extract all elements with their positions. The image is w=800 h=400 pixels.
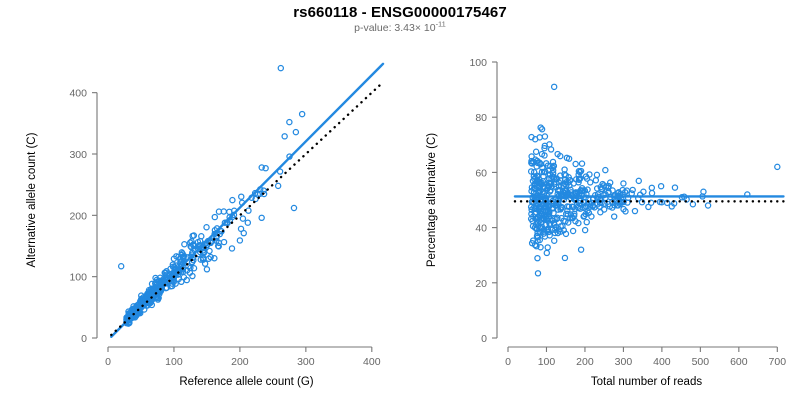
data-point [287,120,292,125]
data-point [241,231,246,236]
data-point [535,256,540,261]
x-tick-label: 0 [105,356,111,368]
data-point [594,172,599,177]
x-tick-label: 600 [730,356,748,368]
data-point [548,147,553,152]
data-point [573,161,578,166]
x-tick-label: 700 [769,356,787,368]
x-tick-label: 400 [363,356,381,368]
data-point [535,271,540,276]
x-tick-label: 0 [505,356,511,368]
data-points [119,66,305,327]
data-point [621,181,626,186]
data-point [552,84,557,89]
data-point [259,215,264,220]
data-point [542,134,547,139]
data-point [630,187,635,192]
data-point [293,130,298,135]
data-point [278,66,283,71]
data-point [584,220,589,225]
data-point [579,161,584,166]
data-point [204,225,209,230]
y-tick-label: 300 [69,149,87,161]
data-point [571,228,576,233]
data-point [245,220,250,225]
data-points [529,84,780,276]
data-point [544,250,549,255]
x-tick-label: 300 [297,356,315,368]
data-point [641,189,646,194]
data-point [282,134,287,139]
data-point [659,184,664,189]
data-point [588,180,593,185]
y-tick-label: 400 [69,88,87,100]
data-point [632,208,637,213]
data-point [239,194,244,199]
data-point [212,214,217,219]
data-point [690,202,695,207]
y-tick-label: 100 [469,57,487,69]
data-point [237,238,242,243]
y-tick-label: 40 [475,223,487,235]
data-point [649,185,654,190]
x-tick-label: 100 [538,356,556,368]
figure-canvas: rs660118 - ENSG00000175467 p-value: 3.43… [0,0,800,400]
x-tick-label: 200 [576,356,594,368]
right-y-axis-label: Percentage alternative (C) [426,62,438,338]
left-y-axis-label: Alternative allele count (C) [26,62,38,338]
right-plot-svg: 0100200300400500600700020406080100 [400,0,800,400]
data-point [246,208,251,213]
data-point [579,247,584,252]
y-tick-label: 60 [475,167,487,179]
data-point [602,207,607,212]
data-point [603,168,608,173]
data-point [291,205,296,210]
y-tick-label: 0 [481,333,487,345]
data-point [583,228,588,233]
data-point [775,164,780,169]
x-tick-label: 100 [165,356,183,368]
y-tick-label: 0 [81,333,87,345]
x-tick-label: 200 [231,356,249,368]
data-point [230,198,235,203]
left-x-axis-label: Reference allele count (G) [108,376,385,388]
regression-line [111,64,383,337]
y-tick-label: 100 [69,272,87,284]
data-point [276,183,281,188]
data-point [705,203,710,208]
data-point [229,246,234,251]
x-tick-label: 500 [692,356,710,368]
x-tick-label: 300 [615,356,633,368]
data-point [672,185,677,190]
y-tick-label: 200 [69,210,87,222]
left-plot-svg: 01002003004000100200300400 [0,0,400,400]
data-point [562,255,567,260]
data-point [545,245,550,250]
y-tick-label: 20 [475,278,487,290]
data-point [119,264,124,269]
data-point [300,111,305,116]
data-point [636,178,641,183]
x-tick-label: 400 [653,356,671,368]
data-point [534,149,539,154]
data-point [552,238,557,243]
data-point [240,216,245,221]
right-x-axis-label: Total number of reads [508,376,785,388]
data-point [593,178,598,183]
data-point [221,239,226,244]
data-point [204,267,209,272]
data-point [612,214,617,219]
data-point [649,191,654,196]
y-tick-label: 80 [475,112,487,124]
data-point [182,242,187,247]
scatter-panel-right: 0100200300400500600700020406080100 Total… [400,0,800,400]
scatter-panel-left: 01002003004000100200300400 Reference all… [0,0,400,400]
